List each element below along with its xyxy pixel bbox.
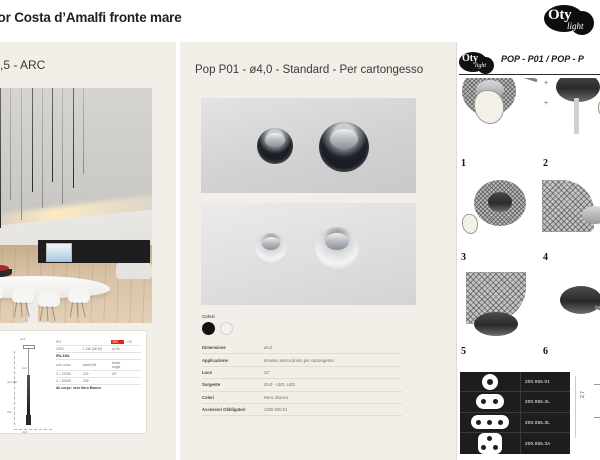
pendant-rod [83,88,84,174]
reflector-cone [265,133,285,147]
pendant-rod [21,88,22,220]
product-code: 200.055.3L [520,413,570,432]
spec-key: Luce [202,370,264,375]
datasheet-row: IP4 IRC CE [56,339,141,346]
page-header: ior Costa d’Amalfi fronte mare Oty light [0,0,600,42]
product-code: 200.055.2L [520,392,570,411]
install-step-4: 4 [542,172,600,264]
pendant-rod [0,88,1,228]
header-divider [459,74,600,75]
spring-clip [574,98,579,134]
datasheet-col-header: cod. color [56,363,80,367]
drawing-suspension-wire [28,349,29,375]
drawing-dim-label: ø1,0 [22,367,27,370]
step-number: 2 [543,158,548,169]
colori-label: Colori [202,314,215,319]
code-table-row: 200.055.3L [460,413,570,433]
plate-figure-1-hole [460,372,520,391]
dimension-value: 2,7 [580,391,586,398]
datasheet-cell: 40° [112,372,126,376]
installation-steps: 1 + + 2 3 [460,78,600,364]
spec-value: Incasso senza bordo per cartongesso [264,358,334,363]
spec-key: Applicazione [202,358,264,363]
datasheet-cell: 3 = 3000K [56,379,80,383]
drawing-tip [26,415,31,425]
mounting-plate [471,415,509,429]
pendant-rod [62,88,63,204]
spec-value: 1200.940.01 [264,407,287,412]
product-code: 200.055.3A [520,433,570,454]
step-number: 4 [543,252,548,263]
render-chair [0,284,4,314]
datasheet-cell: 1,2W (36 W) [83,347,109,351]
plate-hole [498,420,503,425]
spec-row-accessori: Accessori Obbligatori 1200.940.01 [202,404,402,416]
plate-hole [487,436,492,441]
plate-hole [487,420,492,425]
technical-datasheet-card: ø2,0 ø1,0 max 300 752 ø1,0 IP4 IRC CE 23… [0,330,147,434]
spec-row-luce: Luce 22° [202,367,402,379]
datasheet-cell: IP4 [56,340,79,344]
datasheet-cell: All corpo: nero Nero Bianco [56,386,101,390]
dimension-bracket [594,384,600,418]
spec-key: Dimensione [202,345,264,350]
left-panel-title: ,5 - ARC [0,58,45,72]
oty-light-logo-small: Oty light [459,50,495,76]
datasheet-cell: 232 [83,372,109,376]
mounting-plate [482,374,498,390]
datasheet-col-header: beam angle [112,361,126,369]
accessory-code-table: 200.055.01 200.055.2L [460,372,570,454]
step-number: 6 [543,346,548,357]
datasheet-row: 3 = 3000K 256 [56,378,141,385]
step-number: 5 [461,346,466,357]
code-table-row: 200.055.01 [460,372,570,392]
fixture-body [560,286,600,314]
install-step-2: + + 2 [542,78,600,170]
oty-light-logo: Oty light [544,2,596,38]
reflector-cone [330,129,358,149]
datasheet-cell: CE [127,340,141,344]
install-step-1: 1 [460,78,538,170]
spec-row-colori: Colori Nero, Bianco [202,392,402,404]
plus-marker-icon: + [544,100,548,107]
tool-illustration [594,305,600,318]
pendant-rod [73,88,74,188]
spec-key: Colori [202,395,264,400]
swatch-white[interactable] [220,322,233,335]
render-chair [12,288,34,318]
datasheet-cell: 2 = 2700K [56,372,80,376]
fixture-body [488,192,512,212]
datasheet-row: cod. color lumen/W beam angle [56,360,141,371]
datasheet-cell-highlight: IRC [111,340,125,344]
pendant-rod [32,88,33,192]
product-spec-table: Dimensione ø4,0 Applicazione Incasso sen… [202,342,402,416]
spec-row-applicazione: Applicazione Incasso senza bordo per car… [202,354,402,366]
drawing-dim-label: ø2,0 [20,338,25,341]
pendant-rod [10,88,11,200]
render-table-base [24,322,50,323]
code-table-row: 200.055.2L [460,392,570,412]
datasheet-row: IPA.336L [56,353,141,360]
plate-hole [476,420,481,425]
product-title: Pop P01 - ø4,0 - Standard - Per cartonge… [195,64,423,76]
spec-value: ø4,0 [264,345,272,350]
drawing-dim-label: 752 [7,411,11,414]
step-number: 3 [461,252,466,263]
interior-render-image [0,88,152,323]
page-title: ior Costa d’Amalfi fronte mare [0,10,182,25]
instruction-title: POP - P01 / POP - P [501,54,584,64]
install-step-6: 6 [542,266,600,358]
render-screen [46,243,72,262]
install-step-5: 5 [460,266,538,358]
spec-row-dimensione: Dimensione ø4,0 [202,342,402,354]
product-photo-white [201,203,416,305]
drawing-vertical-dimension [14,351,15,425]
datasheet-col-header: lumen/W [83,363,109,367]
logo-subtext: light [475,63,486,69]
render-chair [38,292,60,322]
datasheet-row: All corpo: nero Nero Bianco [56,385,141,391]
plate-hole [487,379,493,385]
mounting-plate [476,394,504,409]
code-table-row: 200.055.3A [460,433,570,454]
pendant-rod [52,88,53,182]
hand-illustration [474,90,504,124]
fixture-body [474,312,518,336]
plate-hole [481,445,486,450]
datasheet-cell: 230V [56,347,80,351]
spec-value: GU4 - LED, LED [264,382,295,387]
plasterboard-sheet [542,180,594,232]
logo-subtext: light [567,21,584,31]
page-body: ,5 - ARC [0,42,600,460]
pendant-rod [42,88,43,208]
mounting-plate [478,433,502,454]
install-step-3: 3 [460,172,538,264]
render-sofa [116,263,152,279]
spec-row-sorgente: Sorgente GU4 - LED, LED [202,379,402,391]
plus-marker-icon: + [544,80,548,87]
plate-figure-2-hole [460,392,520,411]
datasheet-model-code: IPA.336L [56,354,80,358]
spotlight-white-large [315,227,359,271]
product-code: 200.055.01 [520,372,570,391]
product-dimension-drawing: ø2,0 ø1,0 max 300 752 ø1,0 [6,337,52,429]
drawing-canopy [23,345,35,349]
dimension-diagram: 2,7 [575,376,600,438]
plate-figure-3-hole-triangle [460,433,520,454]
product-photo-black [201,98,416,193]
spec-value: 22° [264,370,270,375]
catalog-page: ior Costa d’Amalfi fronte mare Oty light… [0,0,600,460]
step-number: 1 [461,158,466,169]
spotlight-black-small [257,128,293,164]
datasheet-spec-table: IP4 IRC CE 230V 1,2W (36 W) ra 90 IPA.33… [56,339,141,391]
datasheet-cell: 256 [83,379,109,383]
reflector-cone [262,237,280,250]
datasheet-cell: ra 90 [112,347,126,351]
middle-panel: Pop P01 - ø4,0 - Standard - Per cartonge… [180,42,456,460]
color-swatches [202,322,233,335]
plate-hole [481,399,486,404]
plate-hole [493,399,498,404]
datasheet-row: 2 = 2700K 232 40° [56,371,141,378]
instruction-sheet-panel: Oty light POP - P01 / POP - P 1 + + [456,42,600,460]
spotlight-white-small [255,233,287,265]
reflector-cone [325,233,350,251]
drawing-body [27,375,30,415]
left-panel: ,5 - ARC [0,42,176,460]
drawing-horizontal-dimension [14,429,52,430]
spec-key: Sorgente [202,382,264,387]
drawing-dim-label: max 300 [7,381,17,384]
datasheet-row: 230V 1,2W (36 W) ra 90 [56,346,141,353]
drawing-dim-label: ø1,0 [22,431,27,434]
hand-illustration [462,214,478,234]
plate-figure-3-hole-linear [460,413,520,432]
spec-value: Nero, Bianco [264,395,288,400]
render-chair [68,288,90,318]
swatch-black[interactable] [202,322,215,335]
spec-key: Accessori Obbligatori [202,407,264,412]
spotlight-black-large [319,122,369,172]
plate-hole [493,445,498,450]
